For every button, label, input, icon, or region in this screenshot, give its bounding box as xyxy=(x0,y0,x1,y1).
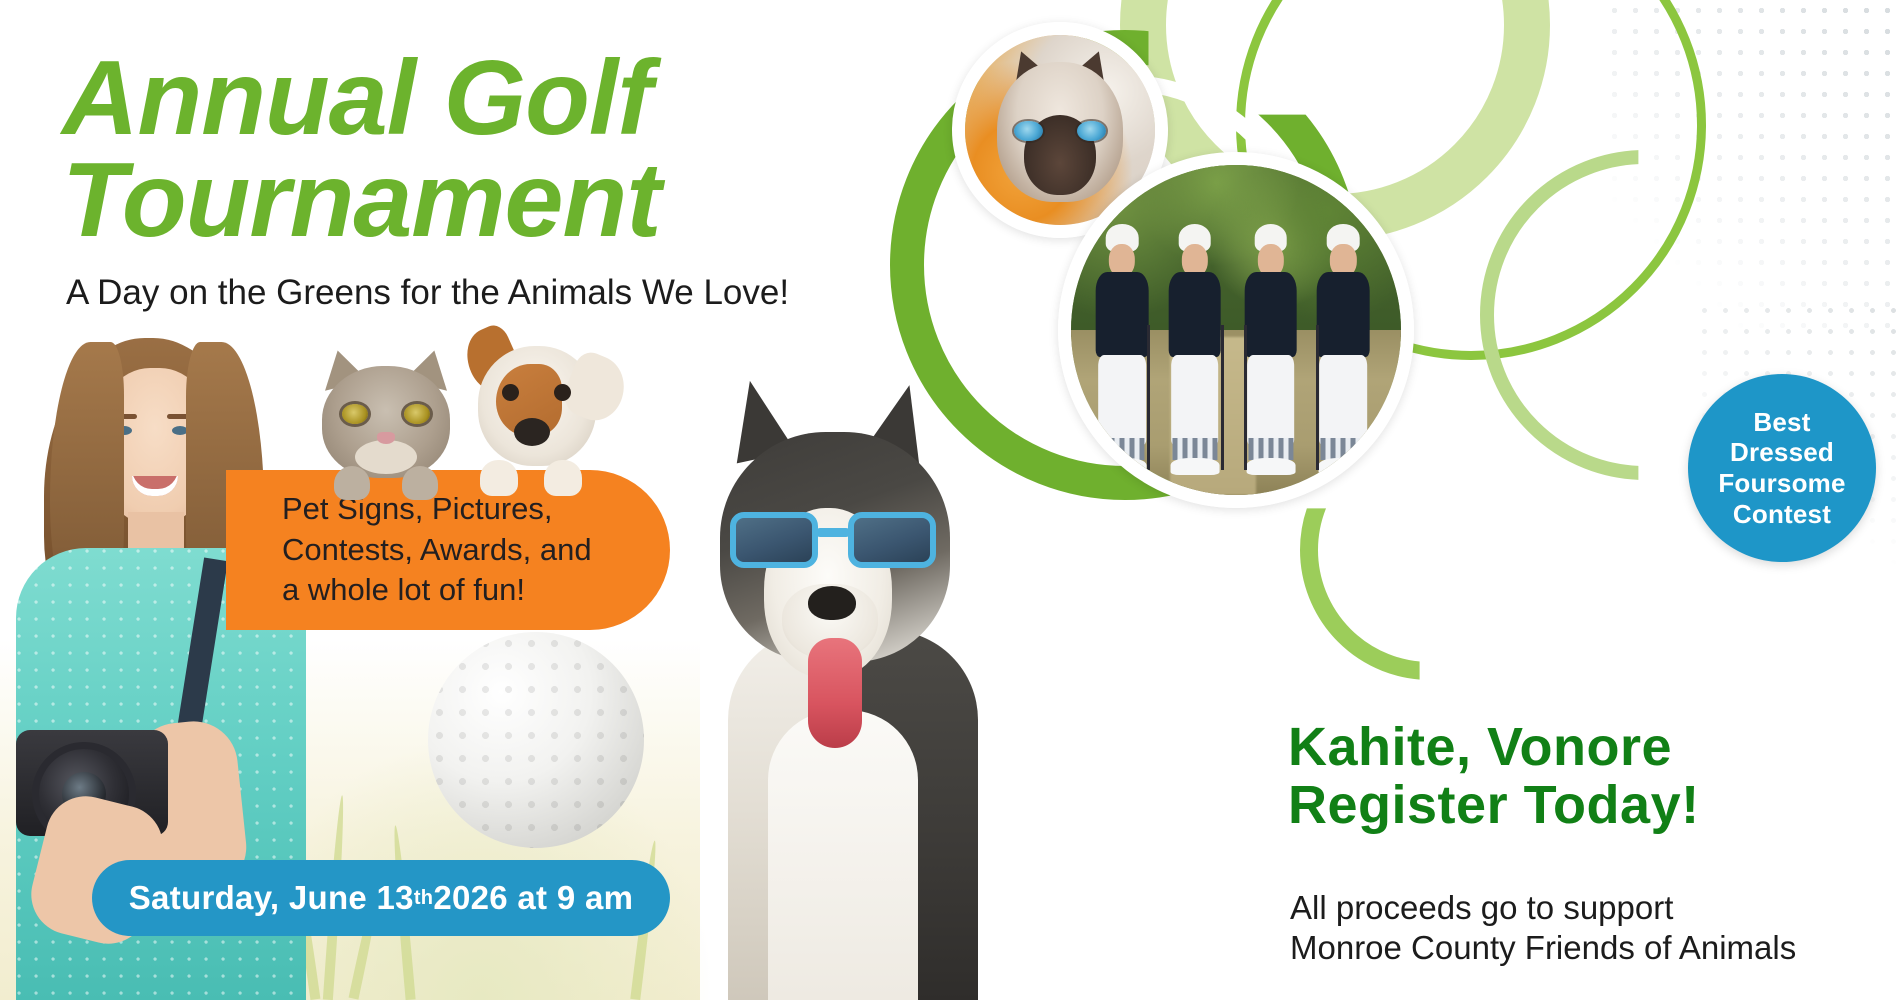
callout-line-2: Contests, Awards, and xyxy=(282,530,640,571)
dog-paw xyxy=(544,460,582,496)
cat-nose xyxy=(377,432,395,444)
sunglasses-lens xyxy=(730,512,818,568)
jack-russell-puppy-photo xyxy=(462,322,622,504)
golfer-figure xyxy=(1091,224,1154,475)
husky-chest xyxy=(768,710,918,1000)
golfer-shoes xyxy=(1098,458,1147,476)
dog-paw xyxy=(480,460,518,496)
cat-eye xyxy=(342,404,368,424)
husky-nose xyxy=(808,586,856,620)
event-date-pill: Saturday, June 13th 2026 at 9 am xyxy=(92,860,670,936)
date-ordinal: th xyxy=(414,887,433,910)
cat-muzzle xyxy=(355,440,417,474)
husky-with-sunglasses-photo xyxy=(672,380,1012,1000)
cat-eye xyxy=(1014,121,1043,142)
badge-line-4: Contest xyxy=(1718,499,1845,530)
golfer-shirt xyxy=(1244,272,1297,357)
badge-line-2: Dressed xyxy=(1718,437,1845,468)
golfer-shirt xyxy=(1317,272,1370,357)
register-heading: Kahite, Vonore Register Today! xyxy=(1288,718,1868,835)
golfer-pants xyxy=(1098,355,1146,445)
golfer-figure xyxy=(1239,224,1302,475)
dog-eye xyxy=(502,384,519,401)
golfer-pants xyxy=(1319,355,1367,445)
golfer-figure xyxy=(1163,224,1226,475)
cat-eye xyxy=(1077,121,1106,142)
register-line-2: Register Today! xyxy=(1288,776,1868,834)
husky-tongue xyxy=(808,638,862,748)
cat-eye xyxy=(404,404,430,424)
golfer-pants xyxy=(1171,355,1219,445)
golfer-shoes xyxy=(1170,458,1219,476)
golf-club xyxy=(1316,325,1319,470)
golfer-shirt xyxy=(1168,272,1221,357)
badge-line-1: Best xyxy=(1718,407,1845,438)
best-dressed-foursome-badge: Best Dressed Foursome Contest xyxy=(1688,374,1876,562)
date-prefix: Saturday, June 13 xyxy=(129,879,414,917)
dog-eye xyxy=(554,384,571,401)
golf-foursome-photo-circle xyxy=(1058,152,1414,508)
golfer-shirt xyxy=(1096,272,1149,357)
golfer-figure xyxy=(1312,224,1375,475)
tabby-cat-photo xyxy=(316,348,456,500)
register-line-1: Kahite, Vonore xyxy=(1288,718,1868,776)
cat-paw xyxy=(402,466,438,500)
golfer-shoes xyxy=(1246,458,1295,476)
golf-club xyxy=(1244,325,1247,470)
proceeds-note: All proceeds go to support Monroe County… xyxy=(1290,888,1890,967)
page-subtitle: A Day on the Greens for the Animals We L… xyxy=(66,272,946,314)
title-line-1: Annual Golf xyxy=(62,48,922,150)
golf-club xyxy=(1147,325,1150,470)
proceeds-line-2: Monroe County Friends of Animals xyxy=(1290,928,1890,968)
date-suffix: 2026 at 9 am xyxy=(433,879,633,917)
golfer-pants xyxy=(1247,355,1295,445)
golf-club xyxy=(1221,325,1224,470)
cat-paw xyxy=(334,466,370,500)
proceeds-line-1: All proceeds go to support xyxy=(1290,888,1890,928)
sunglasses-icon xyxy=(730,512,936,570)
title-line-2: Tournament xyxy=(62,150,922,252)
golfer-shoes xyxy=(1319,458,1368,476)
callout-line-3: a whole lot of fun! xyxy=(282,570,640,611)
badge-line-3: Foursome xyxy=(1718,468,1845,499)
sunglasses-bridge xyxy=(816,528,850,537)
golf-tournament-flyer: Best Dressed Foursome Contest Annual Gol… xyxy=(0,0,1904,1000)
sunglasses-lens xyxy=(848,512,936,568)
page-title: Annual Golf Tournament xyxy=(62,48,922,252)
dog-nose xyxy=(514,418,550,446)
golf-foursome-photo xyxy=(1071,165,1401,495)
golf-ball-image xyxy=(428,632,644,848)
